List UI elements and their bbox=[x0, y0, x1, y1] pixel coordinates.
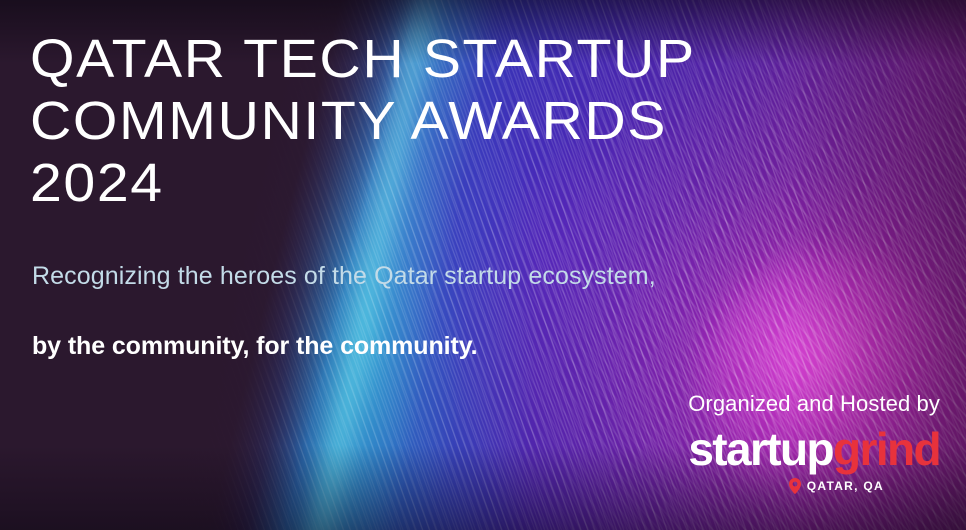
event-subtitle: Recognizing the heroes of the Qatar star… bbox=[32, 262, 656, 291]
logo-text-grind: grind bbox=[833, 423, 940, 475]
sponsor-label: Organized and Hosted by bbox=[642, 390, 942, 418]
logo-text-startup: startup bbox=[688, 423, 833, 475]
banner-content: QATAR TECH STARTUP COMMUNITY AWARDS 2024… bbox=[0, 0, 966, 530]
sponsor-block: Organized and Hosted by startupgrind QAT… bbox=[642, 390, 942, 494]
event-tagline: by the community, for the community. bbox=[32, 332, 478, 361]
sponsor-location-text: QATAR, QA bbox=[807, 479, 884, 493]
map-pin-icon bbox=[789, 478, 801, 494]
awards-banner: QATAR TECH STARTUP COMMUNITY AWARDS 2024… bbox=[0, 0, 966, 530]
event-title-line-3: 2024 bbox=[30, 152, 966, 214]
sponsor-location: QATAR, QA bbox=[642, 478, 942, 494]
startup-grind-logo[interactable]: startupgrind bbox=[642, 424, 942, 474]
event-title: QATAR TECH STARTUP COMMUNITY AWARDS 2024 bbox=[30, 28, 930, 214]
event-title-line-2: COMMUNITY AWARDS bbox=[30, 90, 966, 152]
event-title-line-1: QATAR TECH STARTUP bbox=[30, 28, 966, 90]
